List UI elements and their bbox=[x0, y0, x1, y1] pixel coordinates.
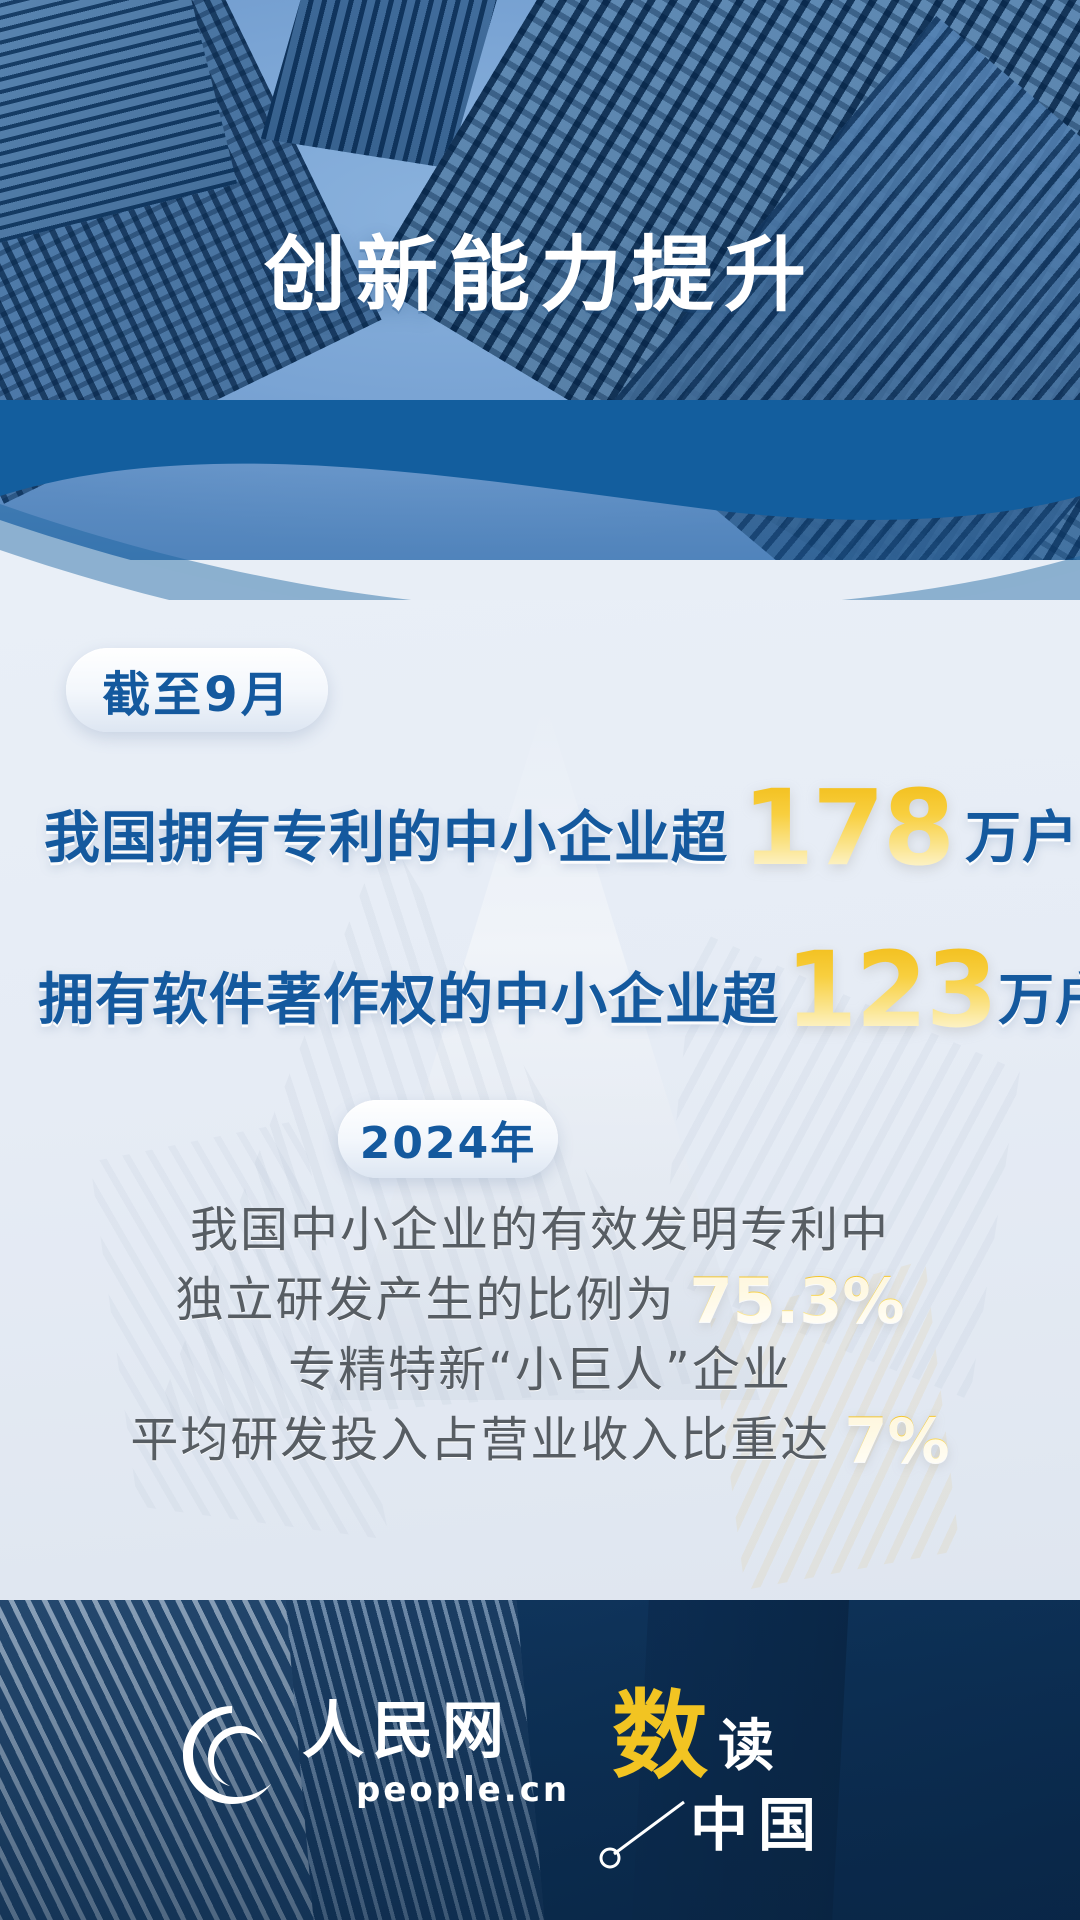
logo-node-line-icon bbox=[598, 1792, 708, 1870]
people-logo-cn: 人民网 bbox=[302, 1700, 570, 1762]
badge-as-of-september: 截至9月 bbox=[66, 648, 328, 732]
stat-unit: 万户 bbox=[998, 973, 1080, 1035]
stat-unit: 万户 bbox=[965, 811, 1079, 873]
series-logo-chars-zhongguo: 中国 bbox=[690, 1796, 826, 1854]
stat-lead-text: 我国拥有专利的中小企业超 bbox=[44, 811, 728, 873]
stat-row-patents: 我国拥有专利的中小企业超 178 万户 bbox=[44, 784, 1079, 873]
paragraph-text: 平均研发投入占营业收入比重达 bbox=[130, 1409, 830, 1472]
highlight-value: 75.3% bbox=[689, 1270, 904, 1332]
paragraph-block: 我国中小企业的有效发明专利中 独立研发产生的比例为 75.3% 专精特新“小巨人… bbox=[0, 1196, 1080, 1476]
people-cn-logo[interactable]: 人民网 people.cn bbox=[178, 1700, 570, 1810]
stat-value: 178 bbox=[742, 784, 953, 873]
paragraph-line: 独立研发产生的比例为 75.3% bbox=[0, 1266, 1080, 1336]
people-logo-text: 人民网 people.cn bbox=[302, 1700, 570, 1810]
infographic-poster: 创新能力提升 截至9月 我国拥有专利的中小企业超 178 万户 拥有软件著作权的… bbox=[0, 0, 1080, 1920]
series-logo-char-shu: 数 bbox=[612, 1688, 708, 1784]
stat-value: 123 bbox=[785, 946, 996, 1035]
people-globe-icon bbox=[178, 1702, 286, 1810]
series-logo-char-du: 读 bbox=[718, 1718, 778, 1774]
paragraph-line: 平均研发投入占营业收入比重达 7% bbox=[0, 1406, 1080, 1476]
stat-row-software-copyright: 拥有软件著作权的中小企业超 123 万户 bbox=[38, 946, 1080, 1035]
paragraph-text: 我国中小企业的有效发明专利中 bbox=[190, 1199, 890, 1262]
people-logo-en: people.cn bbox=[356, 1770, 570, 1810]
badge-year-2024: 2024年 bbox=[338, 1100, 558, 1178]
stat-lead-text: 拥有软件著作权的中小企业超 bbox=[38, 973, 779, 1035]
paragraph-line: 我国中小企业的有效发明专利中 bbox=[0, 1196, 1080, 1266]
paragraph-text: 独立研发产生的比例为 bbox=[175, 1269, 675, 1332]
highlight-value: 7% bbox=[844, 1410, 949, 1472]
paragraph-text: 专精特新“小巨人”企业 bbox=[288, 1339, 792, 1402]
paragraph-line: 专精特新“小巨人”企业 bbox=[0, 1336, 1080, 1406]
page-title: 创新能力提升 bbox=[0, 208, 1080, 327]
shudu-zhongguo-logo[interactable]: 数 读 中国 bbox=[612, 1688, 862, 1878]
